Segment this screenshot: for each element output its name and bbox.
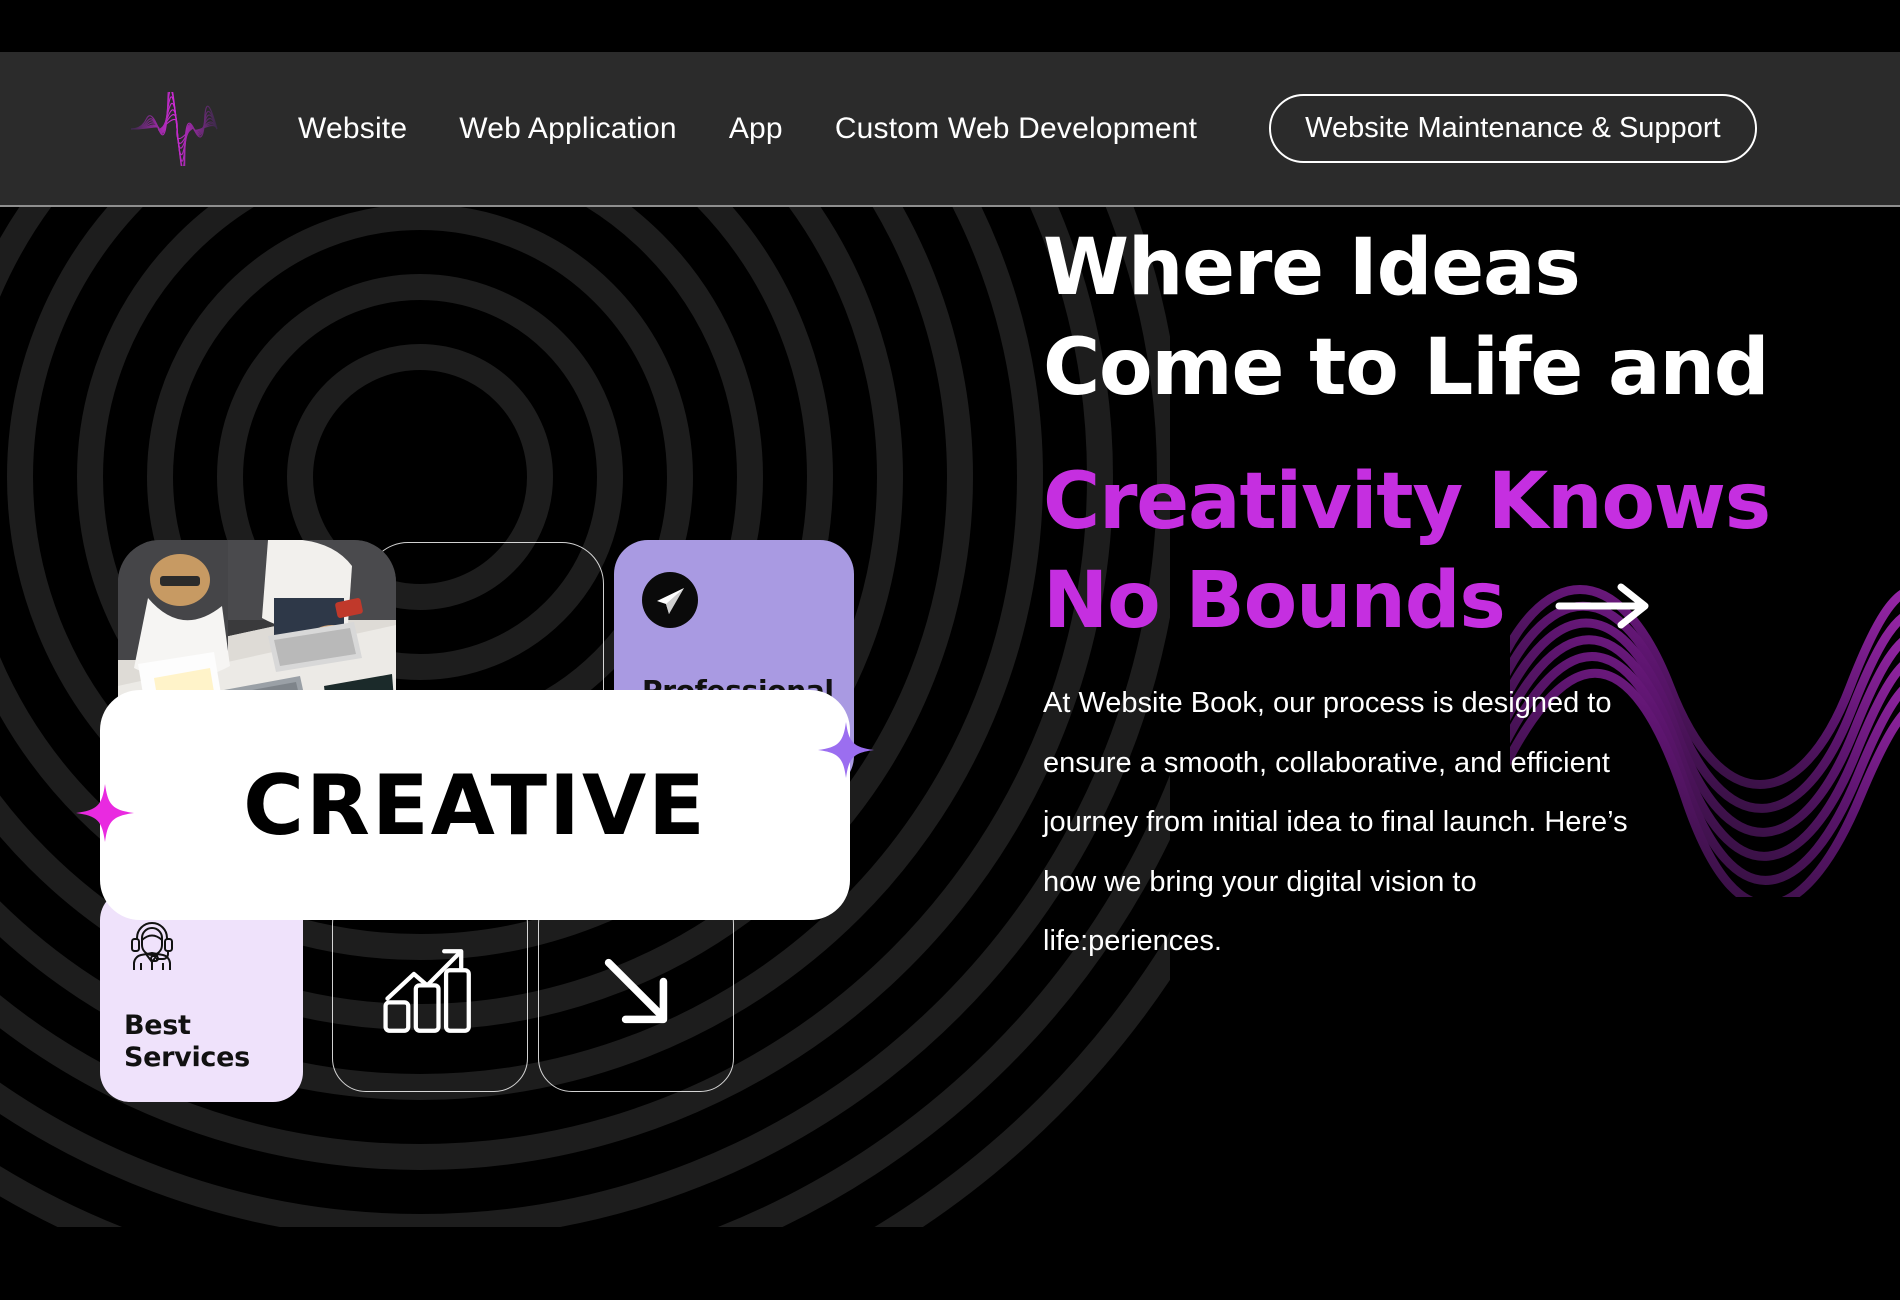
hero-headline-accent: Creativity Knows No Bounds <box>1043 453 1873 653</box>
card-diagonal-arrow[interactable] <box>538 890 734 1092</box>
main-navbar: Website Web Application App Custom Web D… <box>0 52 1900 207</box>
nav-item-web-application[interactable]: Web Application <box>433 112 703 146</box>
hero-section: Professional Team CREATIVE <box>0 207 1900 1300</box>
arrow-down-right-icon <box>584 943 688 1039</box>
hero-headline-white: Where Ideas Come to Life and <box>1043 219 1873 419</box>
arrow-right-icon <box>1555 583 1651 629</box>
hero-collage: Professional Team CREATIVE <box>118 332 863 1282</box>
sparkle-magenta-icon <box>76 784 134 842</box>
send-plane-icon <box>642 572 698 628</box>
headline-line-1: Where Ideas <box>1043 219 1873 319</box>
headline-line-2: Come to Life and <box>1043 319 1873 419</box>
headline-line-4: No Bounds <box>1043 552 1505 652</box>
hero-copy: Where Ideas Come to Life and Creativity … <box>1043 207 1873 972</box>
hero-page: Website Web Application App Custom Web D… <box>0 0 1900 1300</box>
growth-bar-chart-icon <box>378 943 482 1039</box>
creative-banner: CREATIVE <box>100 690 850 920</box>
card-best-services-label: Best Services <box>124 1010 279 1075</box>
headline-line-3: Creativity Knows <box>1043 453 1873 553</box>
nav-item-website[interactable]: Website <box>272 112 433 146</box>
card-growth-chart[interactable] <box>332 890 528 1092</box>
sparkle-purple-icon <box>818 722 874 778</box>
nav-cta-maintenance-support[interactable]: Website Maintenance & Support <box>1269 94 1756 163</box>
top-black-strip <box>0 0 1900 52</box>
nav-item-app[interactable]: App <box>703 112 809 146</box>
nav-item-custom-web-development[interactable]: Custom Web Development <box>809 112 1223 146</box>
hero-arrow-link[interactable] <box>1555 583 1651 629</box>
creative-banner-text: CREATIVE <box>243 764 707 847</box>
nav-links: Website Web Application App Custom Web D… <box>272 94 1757 163</box>
headset-support-icon <box>124 916 180 972</box>
card-best-services[interactable]: Best Services <box>100 890 303 1102</box>
waveform-logo[interactable] <box>128 92 220 166</box>
hero-paragraph: At Website Book, our process is designed… <box>1043 674 1663 971</box>
